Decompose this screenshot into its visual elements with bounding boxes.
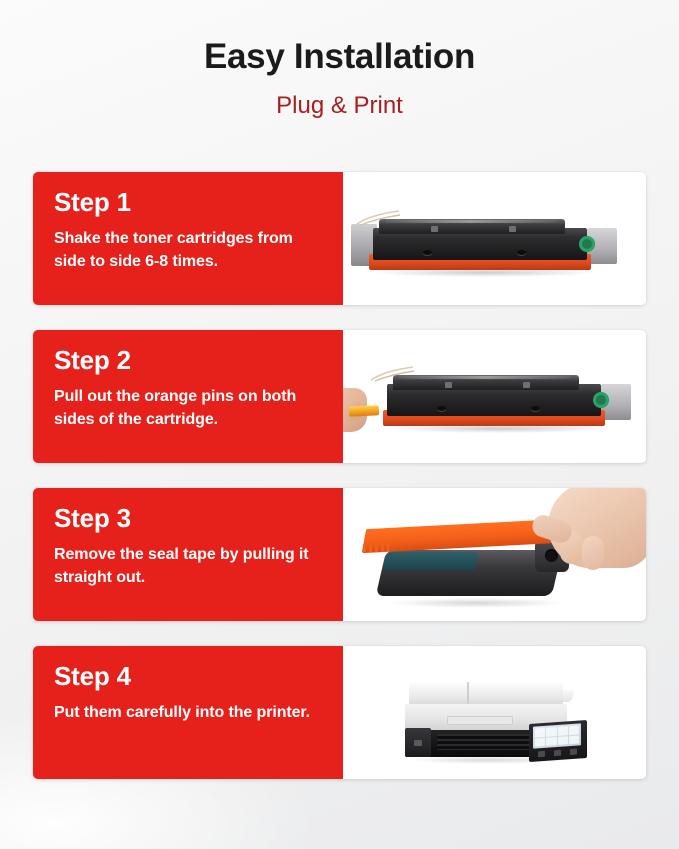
step-card-3: Step 3 Remove the seal tape by pulling i… [33, 488, 646, 621]
steps-list: Step 1 Shake the toner cartridges from s… [33, 172, 646, 804]
cartridge-vent-left [437, 406, 446, 411]
cartridge-tab-right [509, 226, 516, 232]
installation-infographic: Easy Installation Plug & Print Step 1 Sh… [0, 0, 679, 849]
seal-tape-illustration [343, 488, 646, 621]
step-card-2: Step 2 Pull out the orange pins on both … [33, 330, 646, 463]
toner-cartridge-icon [383, 370, 605, 426]
cartridge-green-gear [579, 236, 595, 252]
cartridge-vent-right [517, 250, 526, 255]
step-2-description: Pull out the orange pins on both sides o… [54, 385, 323, 431]
printer-touchscreen[interactable] [533, 723, 581, 748]
toner-cartridge-icon [369, 214, 591, 270]
step-1-text-panel: Step 1 Shake the toner cartridges from s… [33, 172, 343, 305]
cartridge-roller-highlight [385, 220, 557, 223]
cartridge-roller-highlight [399, 376, 571, 379]
printer-paper-slot [447, 716, 513, 725]
cartridge-tab-right [523, 382, 530, 388]
step-card-1: Step 1 Shake the toner cartridges from s… [33, 172, 646, 305]
seal-tape-teeth [363, 543, 389, 552]
step-3-title: Step 3 [54, 505, 323, 532]
printer-button-icon[interactable] [554, 750, 561, 756]
page-title: Easy Installation [0, 0, 679, 77]
power-button-icon[interactable] [414, 740, 422, 746]
orange-pin-icon [349, 405, 379, 417]
screen-tile[interactable] [535, 728, 545, 737]
cartridge-wire-icon [369, 366, 415, 382]
hand-icon [548, 488, 646, 568]
step-4-image-panel [343, 646, 646, 779]
step-3-text-panel: Step 3 Remove the seal tape by pulling i… [33, 488, 343, 621]
screen-tile[interactable] [546, 737, 556, 746]
page-subtitle: Plug & Print [0, 77, 679, 119]
cartridge-green-gear [593, 392, 609, 408]
printer-button-icon[interactable] [570, 749, 577, 755]
cartridge-tab-left [431, 226, 438, 232]
step-4-title: Step 4 [54, 663, 323, 690]
screen-tile[interactable] [569, 735, 579, 744]
step-1-image-panel [343, 172, 646, 305]
step-card-4: Step 4 Put them carefully into the print… [33, 646, 646, 779]
step-4-description: Put them carefully into the printer. [54, 701, 323, 724]
toner-cartridge-pin-illustration [343, 330, 646, 463]
printer-button-icon[interactable] [538, 751, 545, 757]
toner-cartridge-illustration [343, 172, 646, 305]
printer-side-panel [405, 728, 431, 757]
screen-tile[interactable] [535, 737, 545, 746]
step-3-description: Remove the seal tape by pulling it strai… [54, 543, 323, 589]
step-1-title: Step 1 [54, 189, 323, 216]
step-1-description: Shake the toner cartridges from side to … [54, 227, 323, 273]
printer-scanner-lid [409, 682, 563, 704]
screen-tile[interactable] [558, 736, 568, 745]
cartridge-wire-icon [355, 210, 401, 226]
header: Easy Installation Plug & Print [0, 0, 679, 119]
hand-finger-2 [582, 536, 604, 570]
screen-tile[interactable] [569, 725, 579, 734]
printer-lid-seam [467, 682, 469, 704]
cartridge-tab-left [445, 382, 452, 388]
screen-tile[interactable] [546, 727, 556, 736]
cartridge-vent-left [423, 250, 432, 255]
step-2-title: Step 2 [54, 347, 323, 374]
screen-tile[interactable] [558, 726, 568, 735]
step-2-text-panel: Step 2 Pull out the orange pins on both … [33, 330, 343, 463]
step-2-image-panel [343, 330, 646, 463]
step-4-text-panel: Step 4 Put them carefully into the print… [33, 646, 343, 779]
cartridge-vent-right [531, 406, 540, 411]
drum-teal-strip [383, 552, 479, 570]
step-3-image-panel [343, 488, 646, 621]
drum-shadow [387, 598, 567, 608]
printer-illustration [343, 646, 646, 779]
